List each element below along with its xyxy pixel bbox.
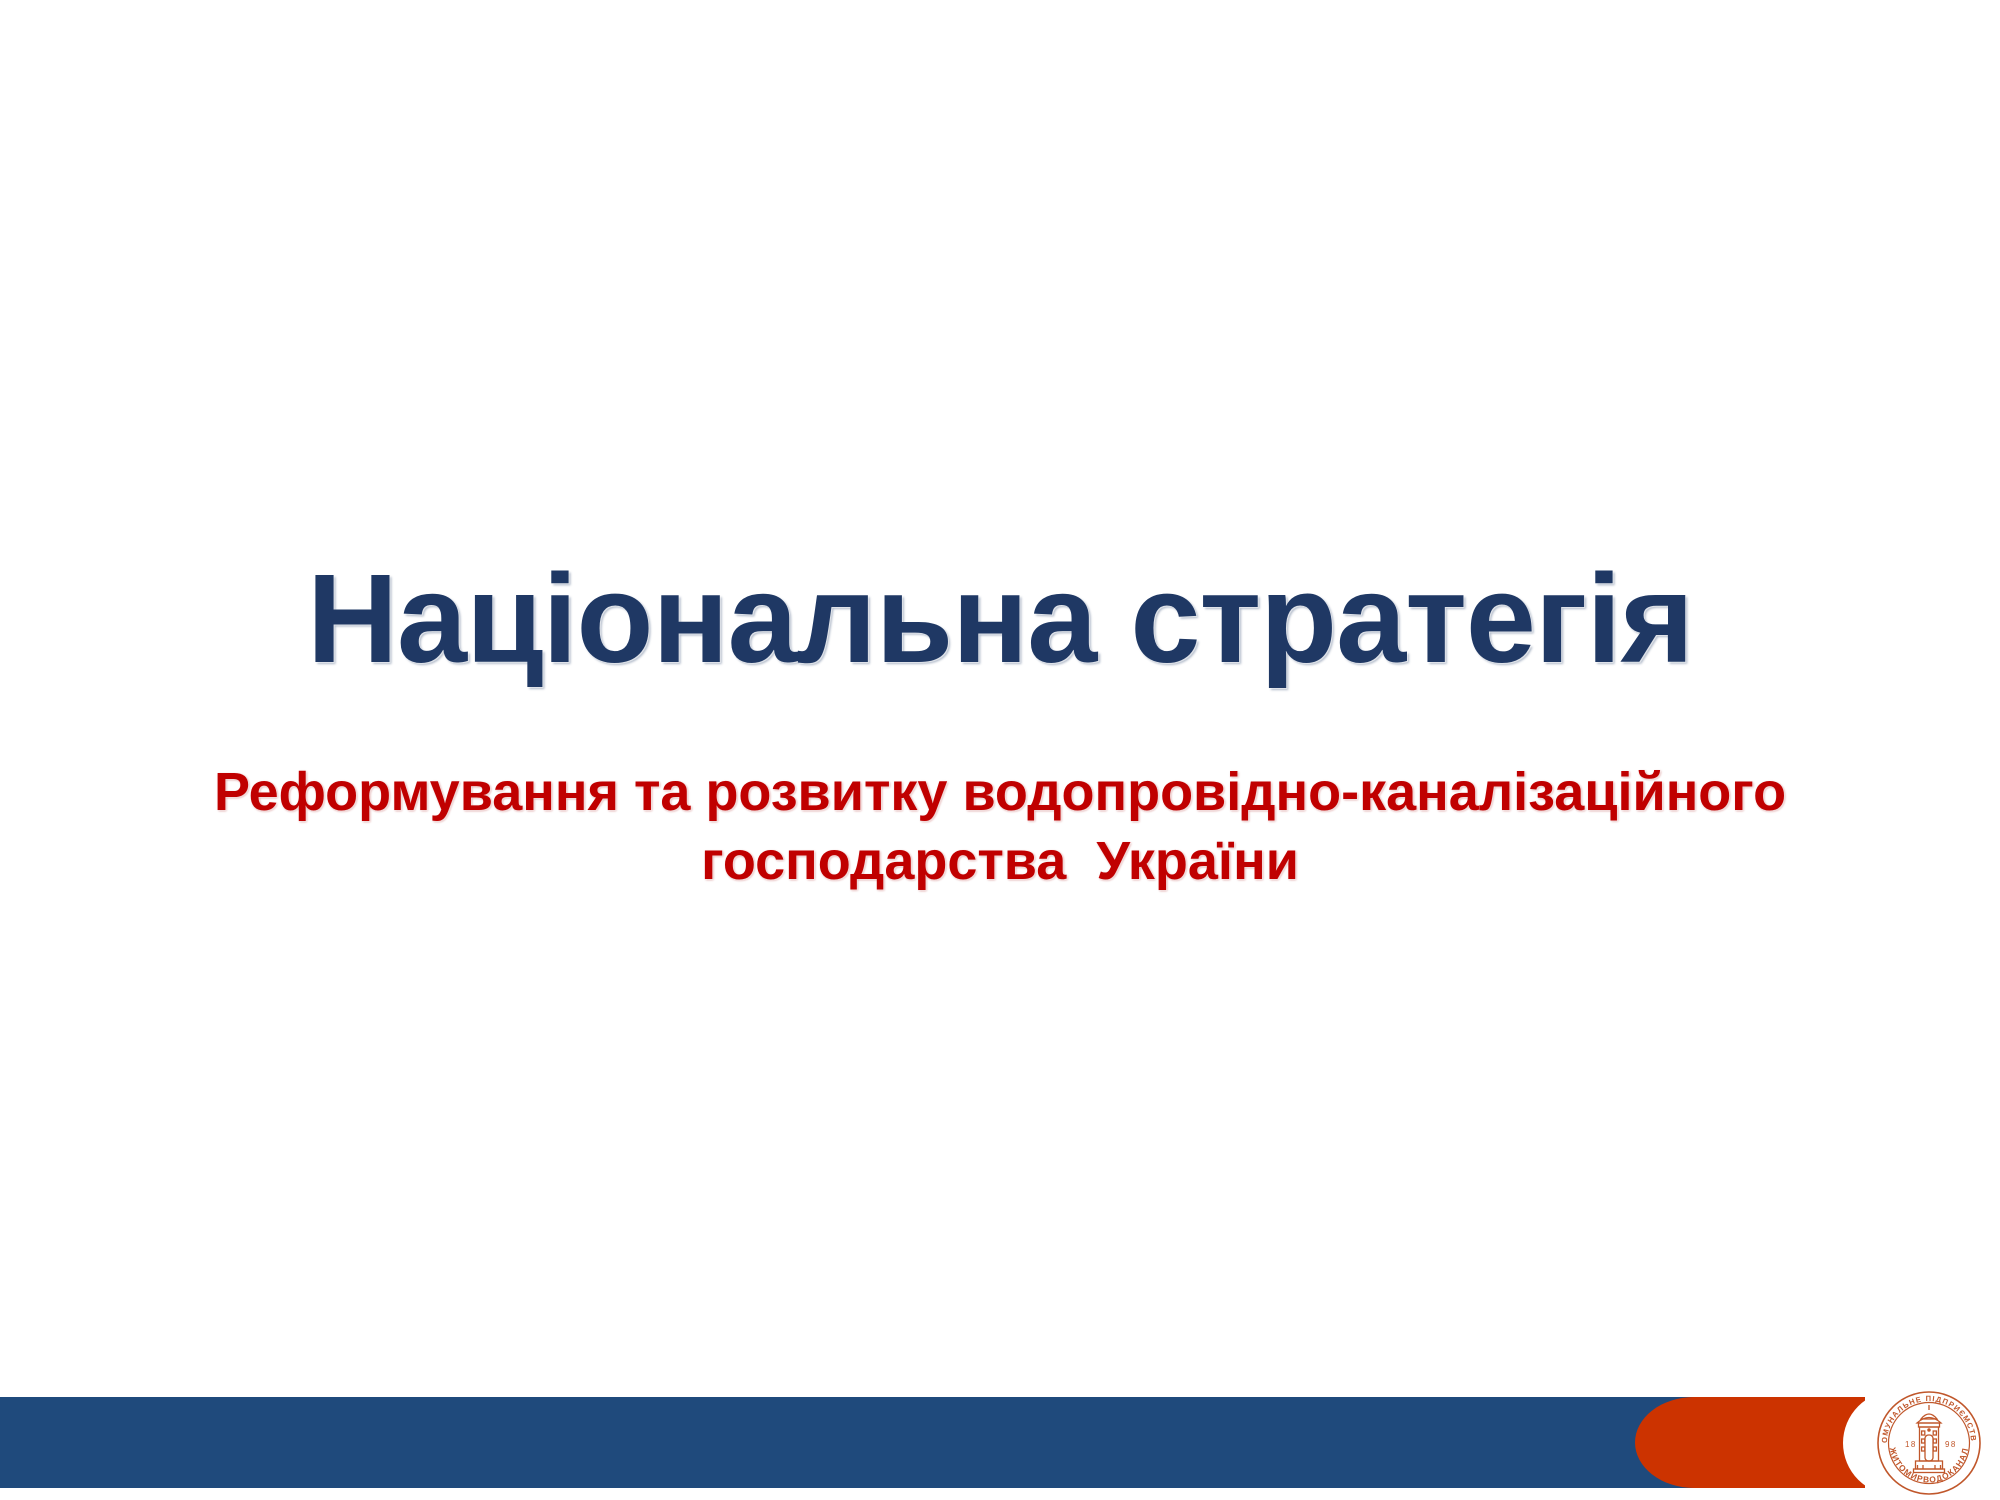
page-subtitle-line-1: Реформування та розвитку водопровідно-ка… (100, 758, 1900, 827)
footer-bar-orange-segment (1635, 1397, 1865, 1488)
seal-year-right: 98 (1945, 1440, 1957, 1449)
page-subtitle-line-2: господарства України (100, 827, 1900, 896)
subtitle-block: Реформування та розвитку водопровідно-ка… (100, 758, 1900, 896)
company-seal-logo: КОМУНАЛЬНЕ ПІДПРИЄМСТВО ЖИТОМИРВОДОКАНАЛ… (1873, 1387, 1985, 1499)
page-title: Національна стратегія (0, 556, 2000, 682)
title-block: Національна стратегія (0, 556, 2000, 682)
seal-year-left: 18 (1905, 1440, 1917, 1449)
zhytomyrvodokanal-seal-icon: КОМУНАЛЬНЕ ПІДПРИЄМСТВО ЖИТОМИРВОДОКАНАЛ… (1873, 1387, 1985, 1499)
presentation-slide: Національна стратегія Реформування та ро… (0, 0, 2000, 1500)
footer-bar-blue-segment (0, 1397, 1865, 1488)
footer-decorative-bar (0, 1397, 2000, 1488)
